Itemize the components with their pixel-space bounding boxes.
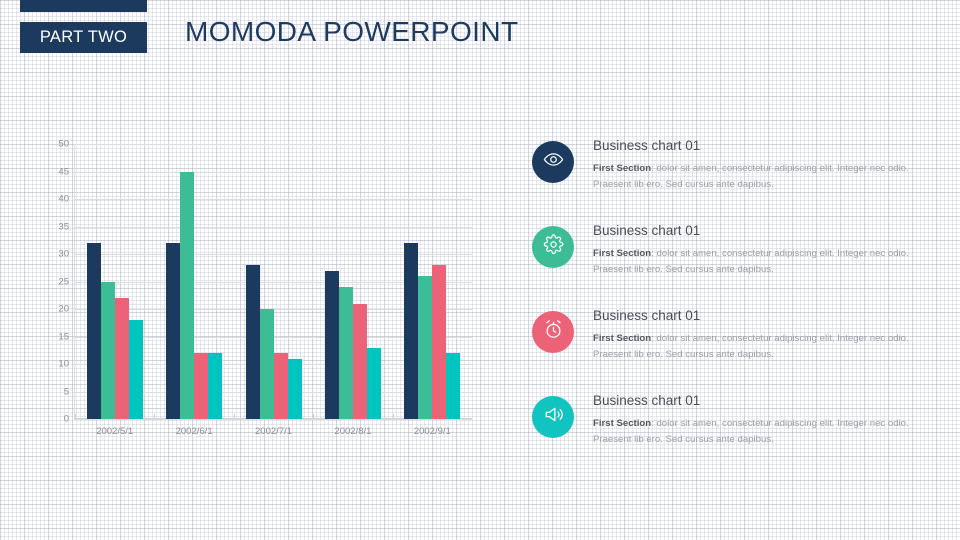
gridline bbox=[74, 419, 472, 420]
x-axis-tick bbox=[234, 414, 235, 419]
chart-bar bbox=[194, 353, 208, 419]
list-item[interactable]: Business chart 01First Section: dolor si… bbox=[532, 138, 932, 223]
x-axis-tick bbox=[154, 414, 155, 419]
x-axis-tick-label: 2002/5/1 bbox=[96, 426, 133, 437]
bar-chart: 05101520253035404550 2002/5/12002/6/1200… bbox=[47, 138, 472, 443]
eye-icon bbox=[543, 149, 564, 175]
slide-root: PART TWO MOMODA POWERPOINT 0510152025303… bbox=[0, 0, 960, 540]
chart-bar-groups: 2002/5/12002/6/12002/7/12002/8/12002/9/1 bbox=[75, 144, 472, 419]
chart-bar bbox=[274, 353, 288, 419]
chart-plot-area: 05101520253035404550 2002/5/12002/6/1200… bbox=[74, 144, 472, 419]
list-item-lead: First Section bbox=[593, 418, 651, 429]
list-item-lead: First Section bbox=[593, 248, 651, 259]
chart-bar bbox=[101, 282, 115, 420]
feature-list: Business chart 01First Section: dolor si… bbox=[532, 138, 932, 478]
chart-bar bbox=[367, 348, 381, 420]
chart-bar bbox=[129, 320, 143, 419]
list-item-title: Business chart 01 bbox=[593, 308, 932, 324]
part-badge: PART TWO bbox=[20, 22, 147, 53]
list-item[interactable]: Business chart 01First Section: dolor si… bbox=[532, 308, 932, 393]
y-axis-tick-label: 35 bbox=[58, 221, 69, 232]
list-item-text: Business chart 01First Section: dolor si… bbox=[593, 138, 932, 192]
chart-bar bbox=[446, 353, 460, 419]
list-item-text: Business chart 01First Section: dolor si… bbox=[593, 393, 932, 447]
chart-bar bbox=[208, 353, 222, 419]
chart-bar bbox=[339, 287, 353, 419]
x-axis-tick-label: 2002/6/1 bbox=[176, 426, 213, 437]
list-item[interactable]: Business chart 01First Section: dolor si… bbox=[532, 393, 932, 478]
list-item[interactable]: Business chart 01First Section: dolor si… bbox=[532, 223, 932, 308]
y-axis-tick-label: 50 bbox=[58, 139, 69, 150]
gear-icon bbox=[543, 234, 564, 260]
y-axis-tick-label: 30 bbox=[58, 249, 69, 260]
alarm-clock-icon bbox=[543, 319, 564, 345]
list-item-title: Business chart 01 bbox=[593, 393, 932, 409]
chart-bar bbox=[115, 298, 129, 419]
y-axis-tick-label: 45 bbox=[58, 166, 69, 177]
list-item-body: First Section: dolor sit amen, consectet… bbox=[593, 331, 932, 362]
y-axis-tick-label: 20 bbox=[58, 304, 69, 315]
header-top-accent-bar bbox=[20, 0, 147, 12]
megaphone-icon bbox=[543, 404, 564, 430]
chart-bar bbox=[87, 243, 101, 419]
list-item-title: Business chart 01 bbox=[593, 138, 932, 154]
y-axis-tick-label: 15 bbox=[58, 331, 69, 342]
bar-group: 2002/5/1 bbox=[75, 144, 154, 419]
x-axis-tick bbox=[75, 414, 76, 419]
list-item-icon-badge[interactable] bbox=[532, 396, 574, 438]
chart-bar bbox=[288, 359, 302, 420]
bar-group: 2002/7/1 bbox=[234, 144, 313, 419]
bar-group: 2002/8/1 bbox=[313, 144, 392, 419]
y-axis-tick-label: 0 bbox=[64, 414, 69, 425]
chart-bar bbox=[353, 304, 367, 420]
bar-group: 2002/6/1 bbox=[154, 144, 233, 419]
y-axis-tick-label: 25 bbox=[58, 276, 69, 287]
list-item-icon-badge[interactable] bbox=[532, 311, 574, 353]
list-item-title: Business chart 01 bbox=[593, 223, 932, 239]
list-item-lead: First Section bbox=[593, 163, 651, 174]
x-axis-tick-label: 2002/8/1 bbox=[334, 426, 371, 437]
page-title: MOMODA POWERPOINT bbox=[185, 18, 518, 46]
list-item-body: First Section: dolor sit amen, consectet… bbox=[593, 416, 932, 447]
list-item-icon-badge[interactable] bbox=[532, 226, 574, 268]
chart-bar bbox=[418, 276, 432, 419]
bar-group: 2002/9/1 bbox=[393, 144, 472, 419]
x-axis-tick-label: 2002/7/1 bbox=[255, 426, 292, 437]
chart-bar bbox=[325, 271, 339, 420]
x-axis-tick bbox=[393, 414, 394, 419]
chart-bar bbox=[166, 243, 180, 419]
x-axis-tick-label: 2002/9/1 bbox=[414, 426, 451, 437]
chart-bar bbox=[260, 309, 274, 419]
y-axis-tick-label: 40 bbox=[58, 194, 69, 205]
chart-bar bbox=[404, 243, 418, 419]
list-item-body: First Section: dolor sit amen, consectet… bbox=[593, 246, 932, 277]
chart-bar bbox=[246, 265, 260, 419]
y-axis-tick-label: 10 bbox=[58, 359, 69, 370]
list-item-text: Business chart 01First Section: dolor si… bbox=[593, 308, 932, 362]
y-axis-tick-label: 5 bbox=[64, 386, 69, 397]
chart-bar bbox=[432, 265, 446, 419]
part-badge-label: PART TWO bbox=[40, 29, 127, 46]
chart-bar bbox=[180, 172, 194, 420]
x-axis-tick bbox=[313, 414, 314, 419]
list-item-body: First Section: dolor sit amen, consectet… bbox=[593, 161, 932, 192]
list-item-text: Business chart 01First Section: dolor si… bbox=[593, 223, 932, 277]
list-item-lead: First Section bbox=[593, 333, 651, 344]
list-item-icon-badge[interactable] bbox=[532, 141, 574, 183]
